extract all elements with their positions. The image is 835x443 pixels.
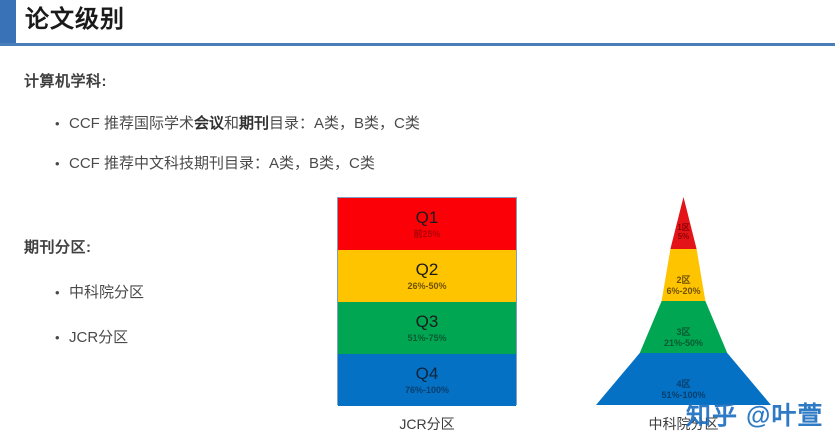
zhihu-watermark: 知乎 @叶萱: [686, 396, 823, 432]
list-item: • CCF 推荐中文科技期刊目录：A类，B类，C类: [55, 152, 375, 173]
jcr-segment-q4: Q4 76%-100%: [338, 354, 516, 406]
list-item-label: JCR分区: [69, 326, 128, 347]
bullet-dot-icon: •: [55, 116, 69, 131]
list-item: • CCF 推荐国际学术会议和期刊目录：A类，B类，C类: [55, 112, 420, 133]
title-divider: [0, 43, 835, 46]
jcr-segment-q2: Q2 26%-50%: [338, 250, 516, 302]
list-item-text-part-bold: 期刊: [239, 115, 269, 132]
pyramid-tier-2b: [662, 249, 706, 301]
section-heading-computer-science: 计算机学科:: [24, 70, 107, 91]
list-item: • 中科院分区: [55, 281, 144, 302]
jcr-segment-q3: Q3 51%-75%: [338, 302, 516, 354]
pyramid-svg: [596, 197, 771, 405]
list-item-label: 中科院分区: [69, 281, 144, 302]
jcr-segment-label: Q3: [416, 312, 439, 331]
cas-quartile-pyramid-chart: 1区 5% 2区 6%-20% 3区 21%-50% 4区 51%-100%: [596, 197, 771, 405]
list-item-text-part: 和: [224, 115, 239, 132]
page-title: 论文级别: [25, 4, 125, 36]
slide-title-bar: 论文级别: [0, 0, 835, 45]
pyramid-tier-1: [670, 197, 696, 249]
list-item-text-part: CCF 推荐国际学术: [69, 115, 194, 132]
jcr-segment-label: Q2: [416, 260, 439, 279]
jcr-segment-range: 76%-100%: [405, 384, 449, 396]
jcr-segment-range: 51%-75%: [407, 332, 446, 344]
jcr-segment-q1: Q1 前25%: [338, 198, 516, 250]
jcr-segment-range: 26%-50%: [407, 280, 446, 292]
list-item-text-part-bold: 会议: [194, 115, 224, 132]
jcr-segment-label: Q1: [416, 208, 439, 227]
jcr-segment-range: 前25%: [413, 228, 440, 240]
list-item-text-part: 目录：A类，B类，C类: [269, 115, 420, 132]
jcr-quartile-bar-chart: Q1 前25% Q2 26%-50% Q3 51%-75% Q4 76%-100…: [337, 197, 517, 405]
section-heading-journal-quartile: 期刊分区:: [24, 236, 92, 257]
pyramid-tier-3: [640, 301, 728, 353]
bullet-dot-icon: •: [55, 156, 69, 171]
jcr-chart-caption: JCR分区: [337, 414, 517, 434]
list-item: • JCR分区: [55, 326, 128, 347]
title-accent-bar: [0, 0, 16, 44]
bullet-dot-icon: •: [55, 330, 69, 345]
jcr-segment-label: Q4: [416, 364, 439, 383]
bullet-dot-icon: •: [55, 285, 69, 300]
list-item-label: CCF 推荐国际学术会议和期刊目录：A类，B类，C类: [69, 112, 420, 133]
list-item-label: CCF 推荐中文科技期刊目录：A类，B类，C类: [69, 152, 375, 173]
